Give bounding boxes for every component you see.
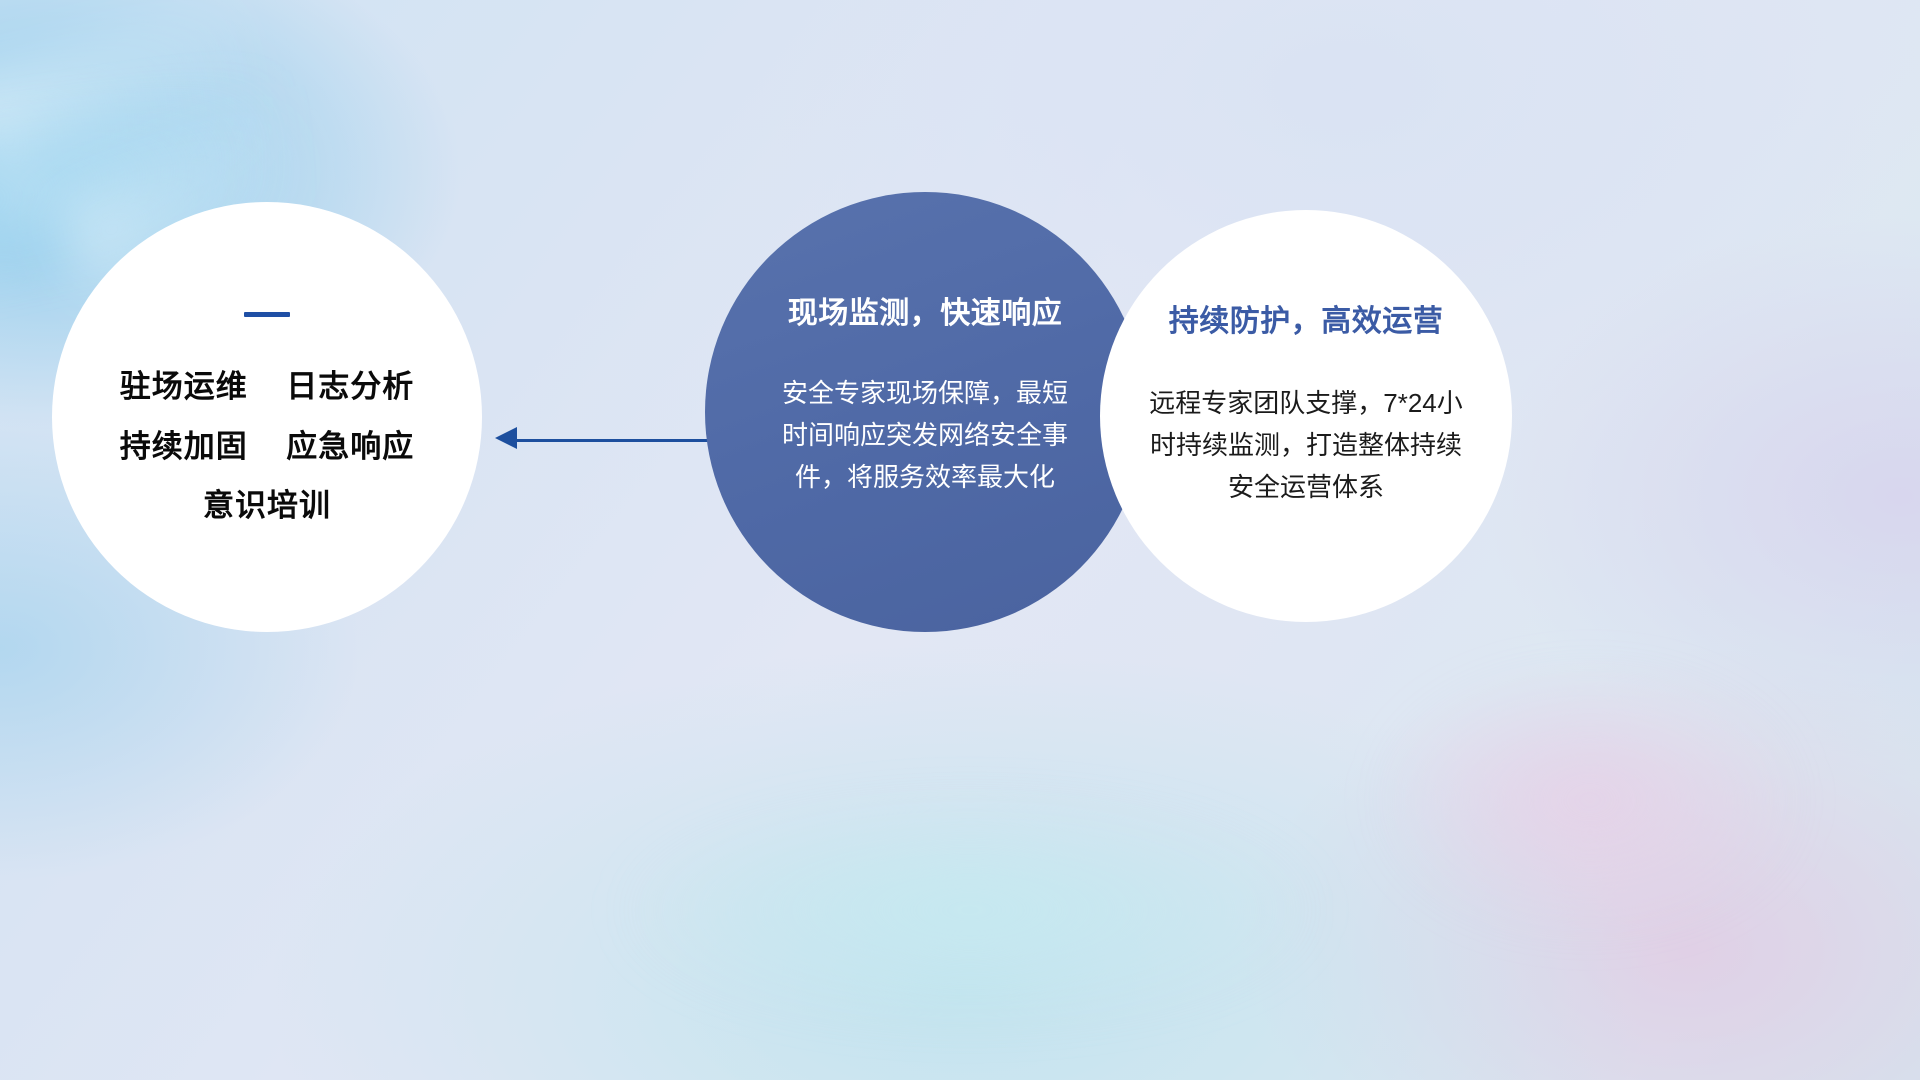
left-summary-circle[interactable]: 驻场运维 日志分析 持续加固 应急响应 意识培训: [52, 202, 482, 632]
middle-feature-circle[interactable]: 现场监测，快速响应 安全专家现场保障，最短时间响应突发网络安全事件，将服务效率最…: [705, 192, 1145, 632]
right-circle-title: 持续防护，高效运营: [1169, 296, 1444, 340]
slide-canvas: 驻场运维 日志分析 持续加固 应急响应 意识培训 现场监测，快速响应 安全专家现…: [0, 0, 1920, 1080]
arrow-line: [513, 439, 735, 442]
connector-arrow: [495, 418, 735, 462]
background-light-streak: [0, 0, 276, 233]
background-glow-bottom: [620, 800, 1320, 1020]
left-keyword-list: 驻场运维 日志分析 持续加固 应急响应 意识培训: [120, 357, 414, 536]
right-circle-body: 远程专家团队支撑，7*24小时持续监测，打造整体持续安全运营体系: [1138, 382, 1474, 508]
right-feature-circle[interactable]: 持续防护，高效运营 远程专家团队支撑，7*24小时持续监测，打造整体持续安全运营…: [1100, 210, 1512, 622]
divider-dash: [244, 312, 290, 317]
arrow-head-icon: [495, 427, 517, 449]
left-keyword-line: 驻场运维 日志分析: [120, 357, 414, 417]
left-keyword-line: 意识培训: [120, 476, 414, 536]
middle-circle-title: 现场监测，快速响应: [788, 288, 1063, 332]
middle-circle-body: 安全专家现场保障，最短时间响应突发网络安全事件，将服务效率最大化: [775, 372, 1075, 498]
background-glow-right: [1380, 670, 1800, 930]
left-keyword-line: 持续加固 应急响应: [120, 417, 414, 477]
